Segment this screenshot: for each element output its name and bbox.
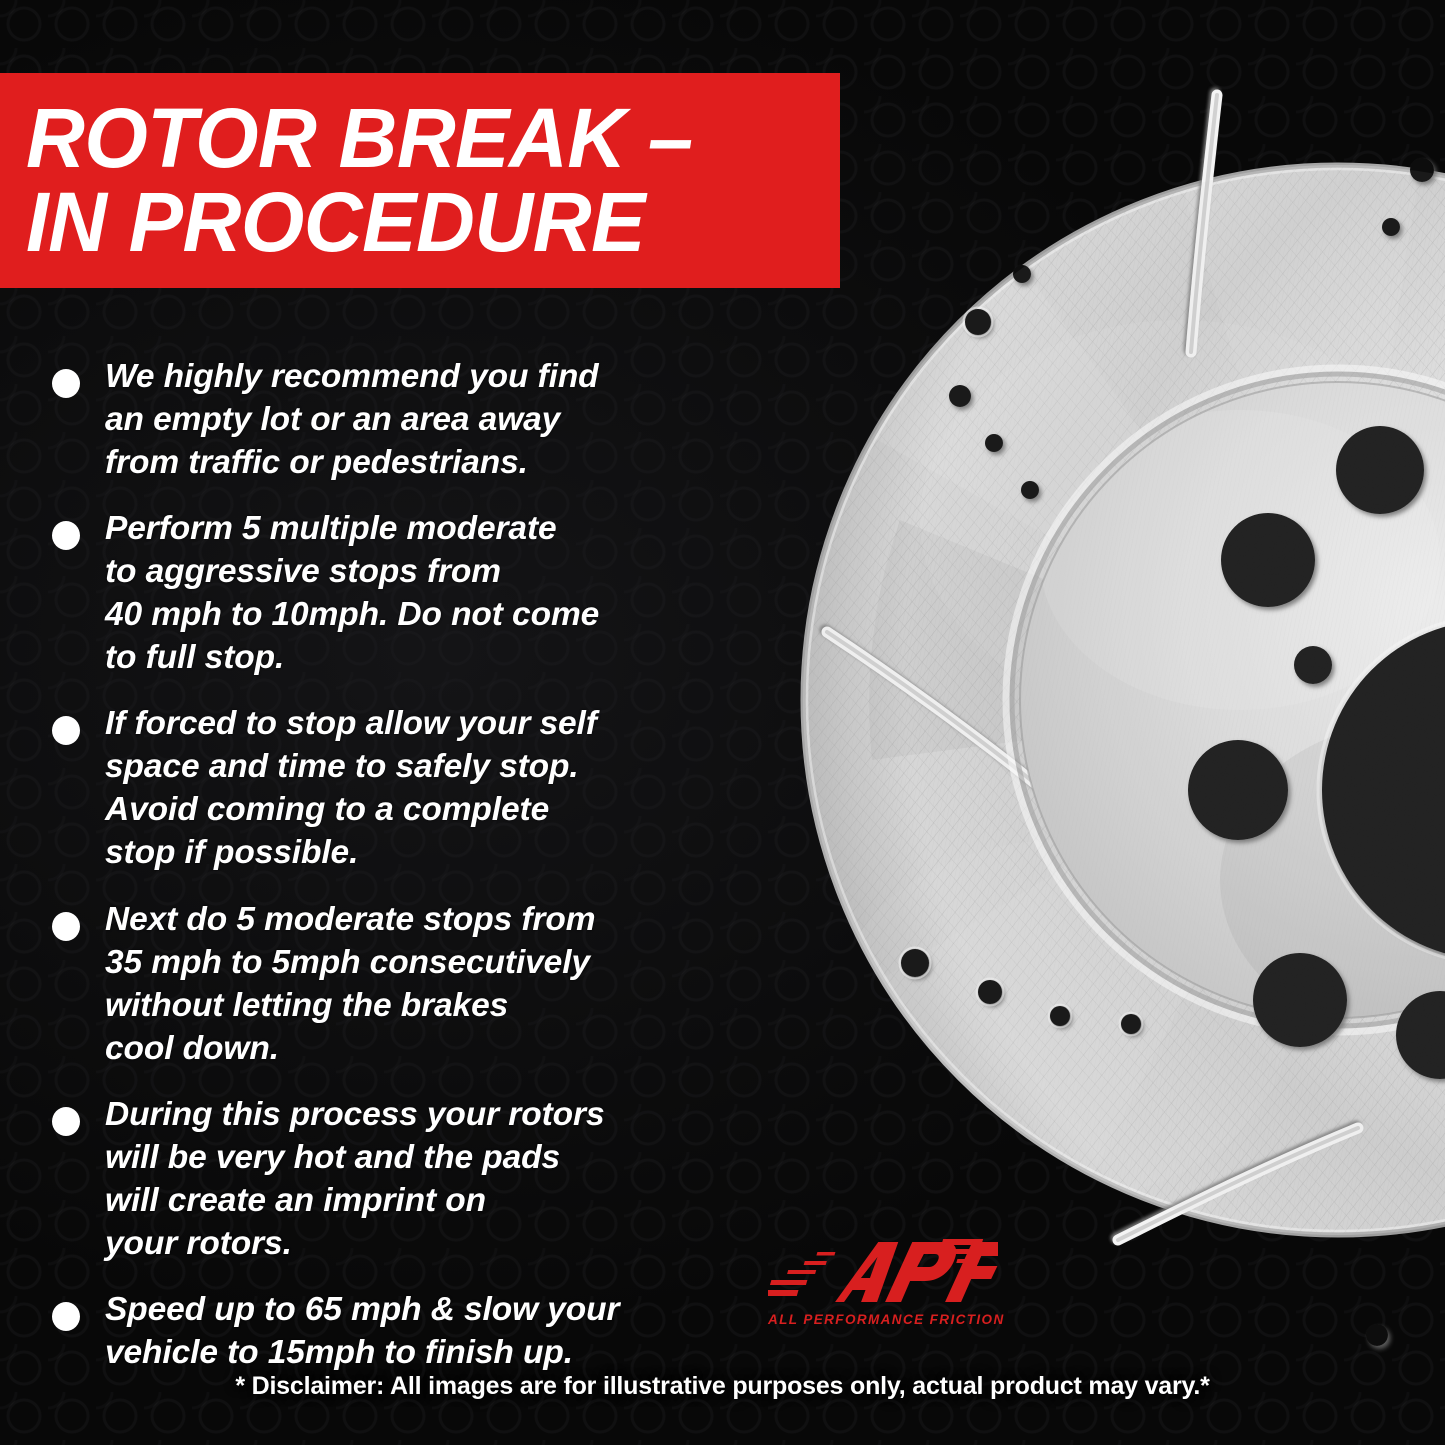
page-title-line-2: IN PROCEDURE [26,181,816,264]
page-title-line-1: ROTOR BREAK – [26,97,816,180]
brand-logo: ALL PERFORMANCE FRICTION [768,1236,998,1336]
bullet-dot-icon [52,1107,80,1136]
procedure-step-list: We highly recommend you find an empty lo… [52,355,772,1397]
list-item: Perform 5 multiple moderate to aggressiv… [52,507,772,679]
list-item-text: During this process your rotors will be … [105,1093,604,1265]
list-item-text: Next do 5 moderate stops from 35 mph to … [105,898,595,1070]
bullet-dot-icon [52,1302,80,1331]
list-item-text: Speed up to 65 mph & slow your vehicle t… [105,1288,619,1374]
brand-tagline: ALL PERFORMANCE FRICTION [768,1312,998,1327]
apf-wordmark-icon [768,1236,998,1310]
bullet-dot-icon [52,369,80,398]
list-item-text: If forced to stop allow your self space … [105,702,597,874]
list-item-text: We highly recommend you find an empty lo… [105,355,599,484]
title-banner: ROTOR BREAK – IN PROCEDURE [0,73,840,288]
list-item: We highly recommend you find an empty lo… [52,355,772,484]
bullet-dot-icon [52,912,80,941]
infographic-canvas: ROTOR BREAK – IN PROCEDURE We highly rec… [0,0,1445,1445]
bullet-dot-icon [52,521,80,550]
bullet-dot-icon [52,716,80,745]
list-item-text: Perform 5 multiple moderate to aggressiv… [105,507,599,679]
list-item: During this process your rotors will be … [52,1093,772,1265]
list-item: If forced to stop allow your self space … [52,702,772,874]
disclaimer-text: * Disclaimer: All images are for illustr… [0,1372,1445,1401]
list-item: Next do 5 moderate stops from 35 mph to … [52,898,772,1070]
list-item: Speed up to 65 mph & slow your vehicle t… [52,1288,772,1374]
